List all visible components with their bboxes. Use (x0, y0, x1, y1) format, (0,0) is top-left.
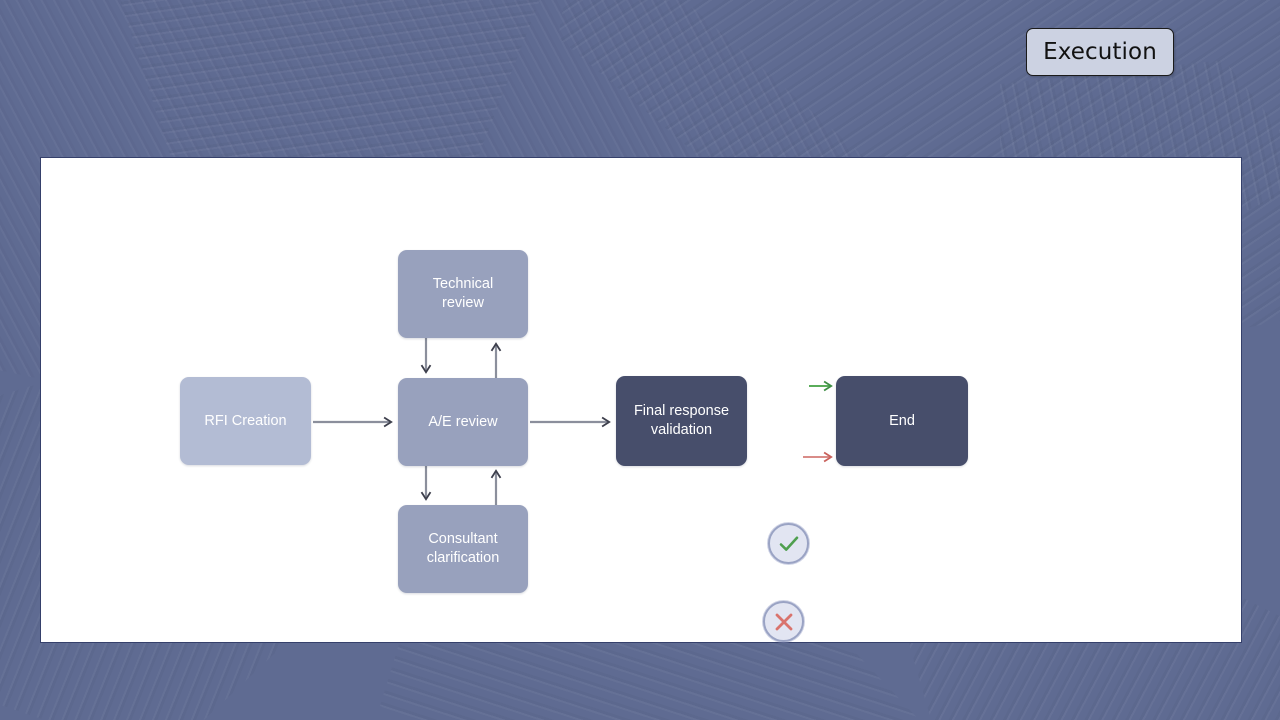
flow-node-label: RFI Creation (204, 412, 286, 431)
flow-node-label-line1: Final response (634, 403, 729, 419)
check-icon (776, 531, 802, 557)
flowchart: RFI Creation Technical review A/E review… (41, 158, 1241, 642)
flow-node-label-line2: validation (651, 422, 712, 438)
diagram-canvas: RFI Creation Technical review A/E review… (40, 157, 1242, 643)
decision-badge-approved[interactable] (768, 523, 809, 564)
phase-label-text: Execution (1043, 39, 1157, 65)
flow-node-label: Consultant clarification (427, 530, 500, 567)
flow-node-consultant-clarification[interactable]: Consultant clarification (398, 505, 528, 593)
flow-node-label-line1: Technical (433, 276, 493, 292)
flow-node-label-line2: clarification (427, 550, 500, 566)
flow-node-technical-review[interactable]: Technical review (398, 250, 528, 338)
flow-node-label: Final response validation (634, 402, 729, 439)
flow-node-label-line1: Consultant (428, 531, 497, 547)
decision-badge-rejected[interactable] (763, 601, 804, 642)
flow-node-final-response-validation[interactable]: Final response validation (616, 376, 747, 466)
flow-node-label-line2: review (442, 295, 484, 311)
cross-icon (771, 609, 797, 635)
flow-node-end[interactable]: End (836, 376, 968, 466)
flow-node-label: A/E review (428, 413, 497, 432)
flow-node-rfi-creation[interactable]: RFI Creation (180, 377, 311, 465)
flow-node-ae-review[interactable]: A/E review (398, 378, 528, 466)
phase-label-chip[interactable]: Execution (1026, 28, 1174, 76)
presentation-slide: Execution (0, 0, 1280, 720)
flow-node-label: End (889, 412, 915, 431)
flow-node-label: Technical review (433, 275, 493, 312)
